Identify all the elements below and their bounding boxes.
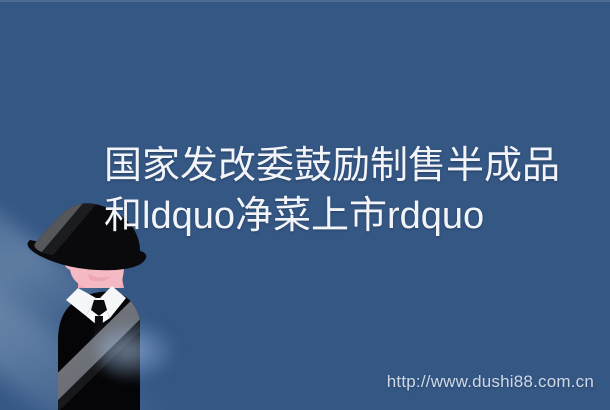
article-banner: 国家发改委鼓励制售半成品和ldquo净菜上市rdquo http://www.d… <box>0 0 610 410</box>
body-light-streak <box>20 282 190 410</box>
watermark-url: http://www.dushi88.com.cn <box>387 372 594 392</box>
top-edge-highlight <box>0 0 610 2</box>
page-title: 国家发改委鼓励制售半成品和ldquo净菜上市rdquo <box>104 141 574 241</box>
suit-shape <box>58 292 140 410</box>
necktie <box>91 300 107 352</box>
light-glow-spot <box>96 322 174 380</box>
light-beam-lower <box>0 250 183 410</box>
shirt-collar <box>66 286 126 326</box>
